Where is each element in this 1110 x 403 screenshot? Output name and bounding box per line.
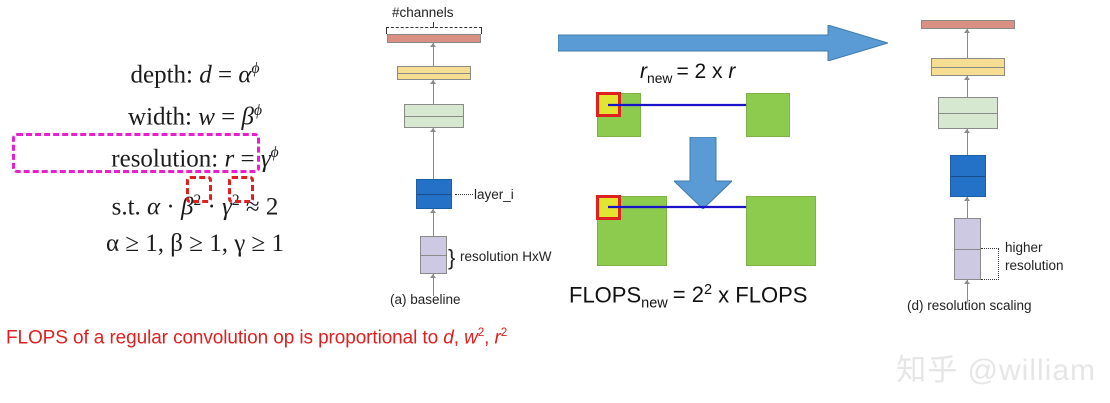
caption-exp-r: 2 xyxy=(501,326,507,339)
caption-text-before: FLOPS of a regular convolution op is pro… xyxy=(6,327,443,348)
constraint-value: 2 xyxy=(266,193,279,220)
resolution-brace: } xyxy=(448,247,455,269)
block-divider xyxy=(955,249,980,250)
resolution-scaling-diagram: higher resolution (d) resolution scaling xyxy=(900,0,1110,320)
baseline-connector-4 xyxy=(433,209,434,237)
scaling-direction-arrow-down xyxy=(674,137,732,209)
block-divider xyxy=(405,116,463,117)
baseline-connector-arrow-3 xyxy=(430,128,436,132)
r-new-rest: = 2 x xyxy=(676,60,728,83)
higher-resolution-label-line2: resolution xyxy=(1005,258,1064,273)
baseline-connector-arrow-5 xyxy=(430,274,436,278)
equation-inequalities: α ≥ 1, β ≥ 1, γ ≥ 1 xyxy=(0,223,390,265)
resolution-highlight-box xyxy=(12,133,260,173)
beta-exponent-highlight-box xyxy=(186,176,212,203)
output-feature-map-large xyxy=(746,196,816,266)
scaling-connector-arrow-4 xyxy=(964,197,970,201)
equation-resolution-base: γ xyxy=(261,145,271,172)
baseline-block-yellow xyxy=(397,66,471,80)
baseline-block-blue-layer-i xyxy=(416,179,452,209)
scaling-connector-1 xyxy=(967,29,968,59)
baseline-block-lavender-input xyxy=(420,236,447,274)
baseline-connector-arrow-1 xyxy=(430,43,436,47)
equation-width-exponent: ϕ xyxy=(254,102,262,119)
caption-var-d: d xyxy=(443,327,453,348)
block-divider xyxy=(932,67,1004,68)
scaling-caption: (d) resolution scaling xyxy=(907,298,1032,313)
baseline-network-diagram: #channels layer_i xyxy=(370,0,570,310)
baseline-connector-arrow-2 xyxy=(430,80,436,84)
flops-subscript: new xyxy=(641,296,668,312)
baseline-block-red xyxy=(387,34,481,43)
equation-resolution-exponent: ϕ xyxy=(271,144,279,161)
baseline-caption: (a) baseline xyxy=(390,292,461,307)
scaling-connector-arrow-2 xyxy=(964,76,970,80)
equation-width-eq: = xyxy=(221,103,235,130)
gamma-exponent-highlight-box xyxy=(228,176,254,203)
block-divider xyxy=(421,255,446,256)
baseline-connector-arrow-4 xyxy=(430,209,436,213)
layer-i-leader-line xyxy=(455,194,473,195)
constraint-alpha: α xyxy=(147,193,160,220)
scaling-connector-arrow-5 xyxy=(964,280,970,284)
equation-depth-eq: = xyxy=(218,61,232,88)
channels-bracket-tick-center xyxy=(433,22,434,28)
higher-resolution-label-line1: higher xyxy=(1005,240,1043,255)
flops-name: FLOPS xyxy=(569,282,641,307)
equation-depth-base: α xyxy=(238,61,251,88)
caption-var-w: w xyxy=(464,327,478,348)
caption-comma-1: , xyxy=(454,327,464,348)
layer-i-label: layer_i xyxy=(474,187,514,202)
scaling-connector-3 xyxy=(967,129,968,156)
output-feature-map-small xyxy=(746,93,790,137)
scaling-connector-arrow-3 xyxy=(964,129,970,133)
higher-resolution-bracket-bottom xyxy=(981,279,999,280)
constraint-dot-1: · xyxy=(166,193,174,220)
equation-depth-lhs: d xyxy=(199,61,212,88)
channels-label: #channels xyxy=(392,5,454,20)
constraint-prefix: s.t. xyxy=(112,193,141,220)
flops-rest: x FLOPS xyxy=(712,282,807,307)
channels-bracket-tick-right xyxy=(481,27,482,34)
channels-bracket-line xyxy=(386,27,482,28)
flops-eq: = 2 xyxy=(673,282,704,307)
baseline-block-green xyxy=(404,104,464,128)
baseline-connector-3 xyxy=(433,128,434,180)
channels-bracket-tick-left xyxy=(386,27,387,34)
resolution-hxw-label: resolution HxW xyxy=(460,249,552,264)
block-divider xyxy=(398,73,470,74)
equation-depth-exponent: ϕ xyxy=(251,60,259,77)
higher-resolution-bracket-side xyxy=(998,248,999,280)
zhihu-watermark: 知乎 @william xyxy=(896,345,1096,389)
flops-new-equation: FLOPSnew= 22 x FLOPS xyxy=(569,282,807,312)
flops-exponent: 2 xyxy=(704,282,712,298)
caption-comma-2: , xyxy=(484,327,494,348)
conv-mapping-arrow-bottom xyxy=(608,200,760,216)
scaling-block-lavender-input xyxy=(954,218,981,280)
higher-resolution-bracket-top xyxy=(981,248,999,249)
equation-width-label: width: xyxy=(128,103,192,130)
slide-canvas: depth: d = αϕ width: w = βϕ resolution: … xyxy=(0,0,1110,403)
scaling-block-green xyxy=(938,97,998,129)
scaling-block-yellow xyxy=(931,58,1005,76)
scaling-block-red xyxy=(921,20,1015,29)
equation-depth-label: depth: xyxy=(130,61,193,88)
equation-width-lhs: w xyxy=(198,103,215,130)
equation-width-base: β xyxy=(241,103,253,130)
r-new-tail: r xyxy=(728,60,735,83)
conv-mapping-arrow-top xyxy=(608,98,760,114)
scaling-direction-arrow-right xyxy=(558,25,888,61)
r-new-subscript: new xyxy=(647,70,672,86)
block-divider xyxy=(417,194,451,195)
r-new-var: r xyxy=(640,60,647,83)
flops-proportionality-caption: FLOPS of a regular convolution op is pro… xyxy=(6,326,507,349)
block-divider xyxy=(939,113,997,114)
scaling-block-blue-layer-i xyxy=(950,155,986,197)
scaling-connector-arrow-1 xyxy=(964,29,970,33)
block-divider xyxy=(951,176,985,177)
r-new-equation: rnew= 2 x r xyxy=(640,60,735,86)
